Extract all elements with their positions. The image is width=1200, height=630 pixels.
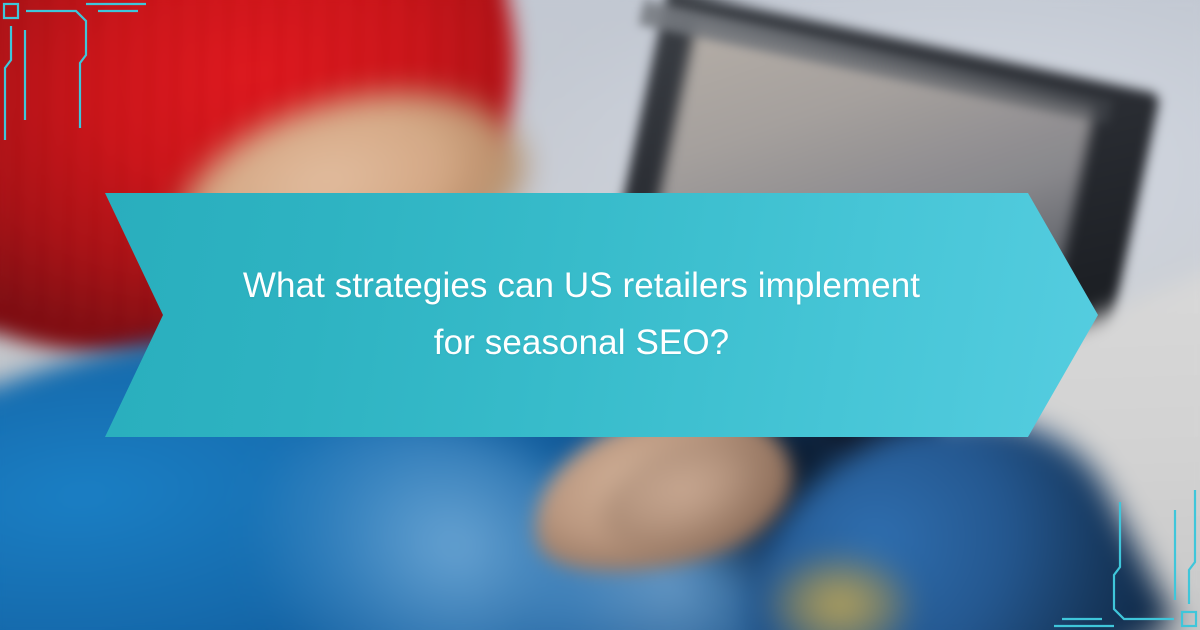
screenshot-canvas: What strategies can US retailers impleme…: [0, 0, 1200, 630]
headline-text-block: What strategies can US retailers impleme…: [215, 193, 948, 437]
headline-banner: What strategies can US retailers impleme…: [105, 193, 1098, 437]
headline-line-2: for seasonal SEO?: [434, 321, 729, 366]
headline-line-1: What strategies can US retailers impleme…: [243, 264, 920, 309]
